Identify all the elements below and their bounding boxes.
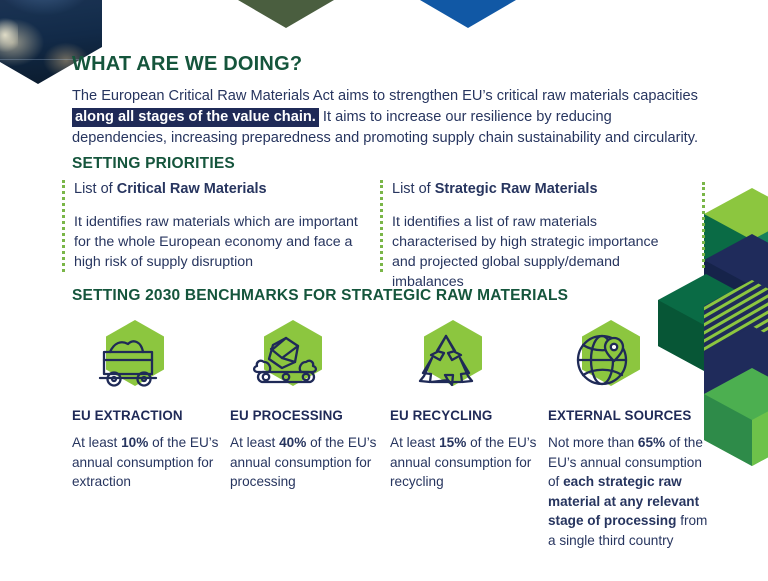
benchmark-text-1: At least [390,435,439,450]
priority-heading-prefix: List of [392,181,435,197]
intro-highlight: along all stages of the value chain. [72,108,319,127]
intro-text-before: The European Critical Raw Materials Act … [72,88,698,104]
benchmark-value: 65% [638,435,665,450]
benchmark-icon-wrap [92,318,164,396]
benchmark-card-external: EXTERNAL SOURCES Not more than 65% of th… [548,318,716,551]
infographic-page: WHAT ARE WE DOING? The European Critical… [0,0,768,581]
globe-pin-icon [568,328,640,390]
benchmark-title: EU EXTRACTION [72,408,224,424]
benchmark-icon-wrap [568,318,640,396]
priority-card-heading: List of Critical Raw Materials [74,180,362,199]
benchmark-title: EXTERNAL SOURCES [548,408,716,424]
benchmark-icon-wrap [250,318,322,396]
benchmark-title: EU RECYCLING [390,408,542,424]
priority-card-body: It identifies a list of raw materials ch… [392,212,680,292]
benchmark-card-processing: EU PROCESSING At least 40% of the EU’s a… [230,318,382,492]
dotted-separator-right [702,182,705,268]
benchmarks-section-title: SETTING 2030 BENCHMARKS FOR STRATEGIC RA… [72,286,568,305]
priority-heading-bold: Critical Raw Materials [117,181,267,197]
priorities-columns: List of Critical Raw Materials It identi… [62,180,702,272]
benchmark-card-extraction: EU EXTRACTION At least 10% of the EU’s a… [72,318,224,492]
benchmark-text: At least 10% of the EU’s annual consumpt… [72,433,224,492]
benchmark-text-1: Not more than [548,435,638,450]
benchmark-text: At least 15% of the EU’s annual consumpt… [390,433,542,492]
priorities-section-title: SETTING PRIORITIES [72,154,235,173]
recycling-icon [410,328,482,390]
benchmark-icon-wrap [410,318,482,396]
page-title: WHAT ARE WE DOING? [72,52,302,76]
benchmark-value: 10% [121,435,148,450]
benchmark-text-1: At least [72,435,121,450]
priority-card-heading: List of Strategic Raw Materials [392,180,680,199]
benchmark-text: Not more than 65% of the EU’s annual con… [548,433,716,551]
mining-cart-icon [92,328,164,390]
benchmark-value: 15% [439,435,466,450]
priority-heading-prefix: List of [74,181,117,197]
benchmark-title: EU PROCESSING [230,408,382,424]
priority-card-body: It identifies raw materials which are im… [74,212,362,272]
benchmarks-row: EU EXTRACTION At least 10% of the EU’s a… [72,318,712,568]
intro-paragraph: The European Critical Raw Materials Act … [72,86,700,149]
priority-card-critical: List of Critical Raw Materials It identi… [62,180,362,272]
top-hexagon-blue [420,0,516,28]
benchmark-text: At least 40% of the EU’s annual consumpt… [230,433,382,492]
benchmark-text-1: At least [230,435,279,450]
top-hexagon-green [238,0,334,28]
conveyor-belt-icon [250,328,322,390]
priority-heading-bold: Strategic Raw Materials [435,181,598,197]
benchmark-value: 40% [279,435,306,450]
priority-card-strategic: List of Strategic Raw Materials It ident… [380,180,680,292]
benchmark-card-recycling: EU RECYCLING At least 15% of the EU’s an… [390,318,542,492]
